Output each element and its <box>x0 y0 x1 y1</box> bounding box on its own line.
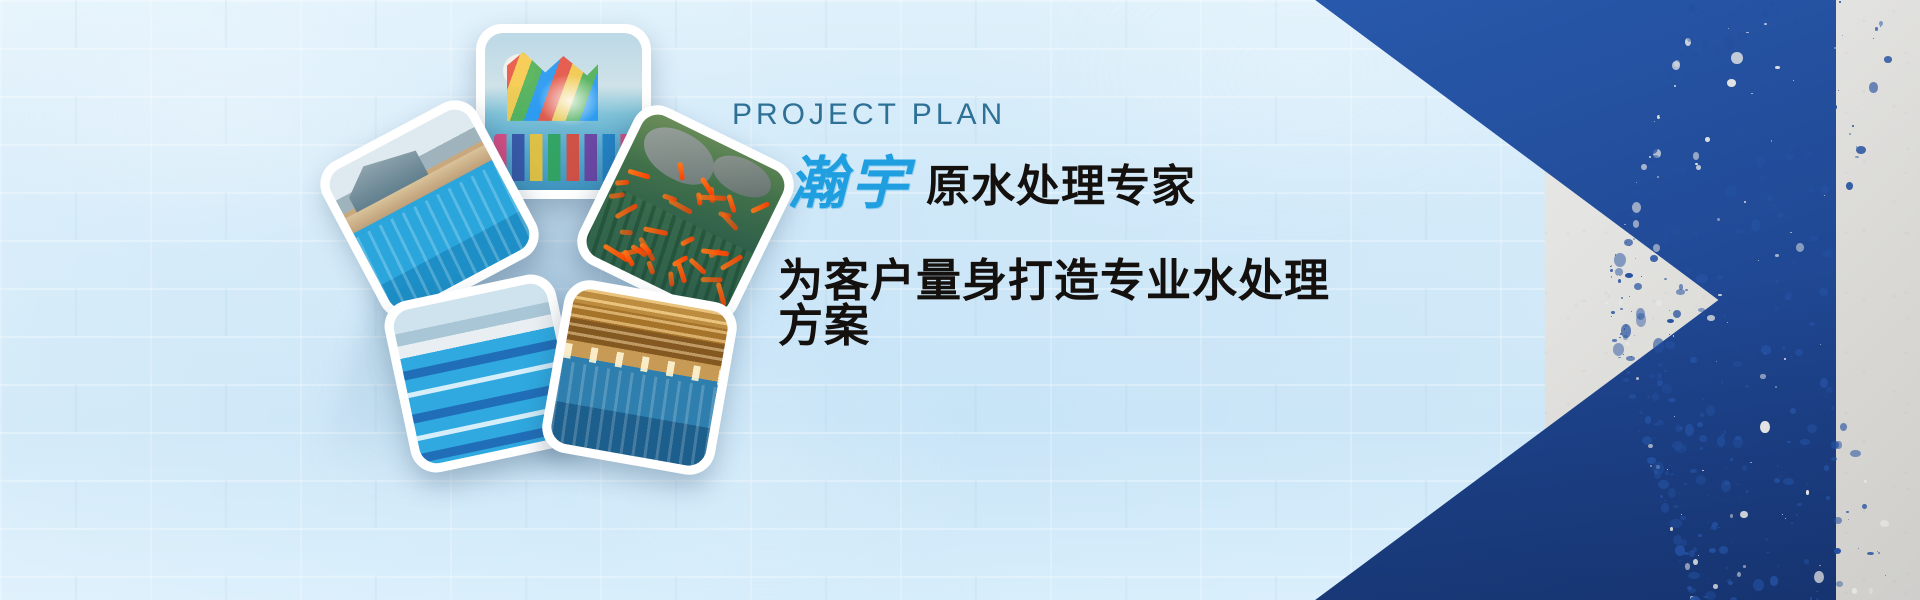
headline-row: 瀚宇 原水处理专家 <box>728 154 1348 212</box>
sub-headline: 为客户量身打造专业水处理方案 <box>728 258 1348 348</box>
photo-cluster <box>330 14 780 484</box>
pond-rock-large <box>634 118 722 193</box>
headline-tagline: 原水处理专家 <box>926 165 1196 212</box>
water-spray <box>538 74 601 127</box>
photo-tile-indoor-pool[interactable] <box>538 276 741 479</box>
banner-text-block: PROJECT PLAN 瀚宇 原水处理专家 为客户量身打造专业水处理方案 <box>728 98 1348 348</box>
promo-banner: PROJECT PLAN 瀚宇 原水处理专家 为客户量身打造专业水处理方案 <box>0 0 1920 600</box>
eyebrow-text: PROJECT PLAN <box>728 98 1348 132</box>
brand-name: 瀚宇 <box>788 154 912 212</box>
indoor-swimming-pool-image <box>549 287 731 469</box>
